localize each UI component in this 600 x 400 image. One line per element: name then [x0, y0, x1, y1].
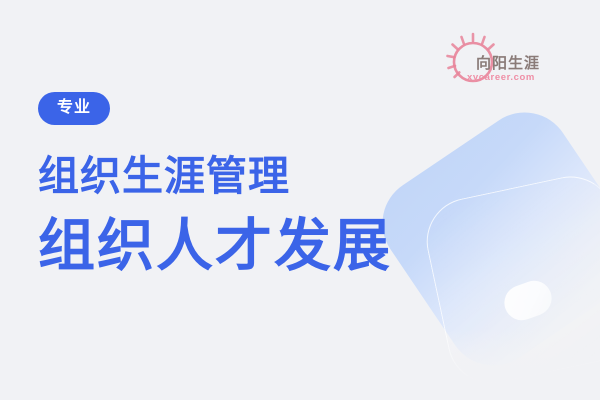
category-badge: 专业 [38, 92, 110, 125]
promo-banner: 向阳生涯 xycareer.com 专业 组织生涯管理 组织人才发展 [0, 0, 600, 400]
svg-text:xycareer.com: xycareer.com [467, 72, 535, 83]
banner-content: 专业 组织生涯管理 组织人才发展 [38, 92, 508, 275]
decorative-bottom-fade [380, 330, 600, 400]
brand-logo: 向阳生涯 xycareer.com [444, 32, 556, 90]
sun-logo-icon: 向阳生涯 xycareer.com [444, 32, 556, 90]
headline-line-1: 组织生涯管理 [38, 156, 508, 197]
decorative-blob-shape [499, 276, 556, 325]
svg-text:向阳生涯: 向阳生涯 [476, 54, 540, 72]
headline-line-2: 组织人才发展 [38, 218, 508, 275]
